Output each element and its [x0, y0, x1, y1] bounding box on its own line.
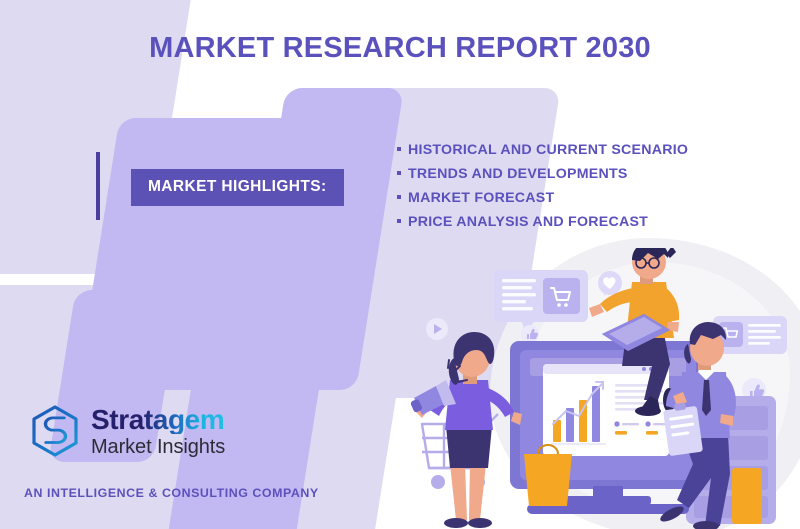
bullet-square-icon: [397, 147, 401, 151]
highlights-accent-rule: [96, 152, 100, 220]
list-item-label: HISTORICAL AND CURRENT SCENARIO: [408, 138, 688, 162]
bullet-square-icon: [397, 195, 401, 199]
list-item: MARKET FORECAST: [397, 186, 688, 210]
woman-with-megaphone: [410, 332, 522, 528]
page-title: MARKET RESEARCH REPORT 2030: [0, 32, 800, 65]
shopping-bag: [524, 445, 572, 506]
brand-subtitle: Market Insights: [91, 437, 225, 457]
highlights-list: HISTORICAL AND CURRENT SCENARIO TRENDS A…: [397, 138, 688, 234]
clipboard-icon: [663, 402, 703, 456]
list-item-label: TRENDS AND DEVELOPMENTS: [408, 162, 628, 186]
market-highlights-banner: MARKET HIGHLIGHTS:: [131, 169, 344, 206]
bullet-square-icon: [397, 219, 401, 223]
list-item: TRENDS AND DEVELOPMENTS: [397, 162, 688, 186]
decorative-slab-medium-2: [238, 88, 404, 390]
list-item: HISTORICAL AND CURRENT SCENARIO: [397, 138, 688, 162]
list-item-label: PRICE ANALYSIS AND FORECAST: [408, 210, 648, 234]
cart-card-top: [494, 270, 588, 332]
bullet-square-icon: [397, 171, 401, 175]
thumbs-up-badge: [521, 325, 539, 343]
market-research-team-illustration: [410, 248, 800, 529]
brand-name: Stratagem: [91, 406, 225, 434]
list-item-label: MARKET FORECAST: [408, 186, 554, 210]
decorative-slab-medium-1: [76, 118, 294, 390]
brand-tagline: AN INTELLIGENCE & CONSULTING COMPANY: [24, 486, 319, 500]
play-badge: [426, 318, 448, 340]
brand-logo: Stratagem Market Insights: [28, 404, 225, 458]
brand-logo-text: Stratagem Market Insights: [91, 406, 225, 457]
market-report-poster: MARKET RESEARCH REPORT 2030 MARKET HIGHL…: [0, 0, 800, 529]
hexagon-s-logo-icon: [28, 404, 82, 458]
list-item: PRICE ANALYSIS AND FORECAST: [397, 210, 688, 234]
